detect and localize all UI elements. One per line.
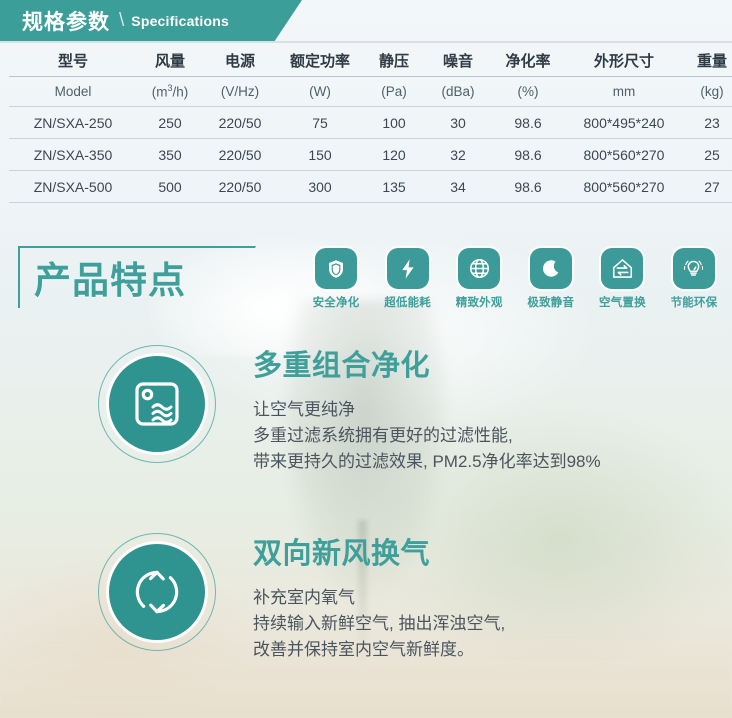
- unit-weight: (kg): [683, 77, 732, 107]
- th-model: 型号: [9, 45, 137, 77]
- feature-title: 双向新风换气: [253, 539, 505, 571]
- th-airflow: 风量: [137, 45, 203, 77]
- feature-icon-ring: [98, 345, 216, 463]
- feature-badge-label: 超低能耗: [384, 294, 431, 310]
- banner-separator: \: [119, 10, 124, 32]
- house-exchange-icon: [601, 248, 643, 289]
- th-purification-rate: 净化率: [491, 45, 565, 77]
- feature-line: 改善并保持室内空气新鲜度。: [253, 637, 505, 663]
- feature-badge-eco[interactable]: 节能环保: [663, 248, 725, 310]
- feature-block-multi-filtration: 多重组合净化 让空气更纯净 多重过滤系统拥有更好的过滤性能, 带来更持久的过滤效…: [98, 345, 601, 474]
- table-row: ZN/SXA-350 350 220/50 150 120 32 98.6 80…: [9, 139, 732, 171]
- cell-weight: 25: [683, 139, 732, 171]
- banner-underline: [0, 41, 732, 43]
- unit-power-supply: (V/Hz): [203, 77, 277, 107]
- feature-line: 多重过滤系统拥有更好的过滤性能,: [253, 423, 601, 449]
- cell-airflow: 250: [137, 107, 203, 139]
- lightning-bolt-icon: [387, 248, 429, 289]
- feature-line: 持续输入新鲜空气, 抽出浑浊空气,: [253, 611, 505, 637]
- feature-badge-label: 空气置换: [599, 294, 646, 310]
- circular-arrows-icon: [109, 544, 205, 640]
- cell-dimensions: 800*560*270: [565, 139, 683, 171]
- cell-model: ZN/SXA-250: [9, 107, 137, 139]
- cell-airflow: 350: [137, 139, 203, 171]
- cell-dimensions: 800*495*240: [565, 107, 683, 139]
- cell-purification: 98.6: [491, 139, 565, 171]
- product-detail-page: 规格参数 \ Specifications 型号 风量 电源 额定功率 静压 噪…: [0, 0, 732, 718]
- cell-power-supply: 220/50: [203, 171, 277, 203]
- cell-airflow: 500: [137, 171, 203, 203]
- feature-line: 补充室内氧气: [253, 585, 505, 611]
- filter-waves-icon: [109, 356, 205, 452]
- table-header-row: 型号 风量 电源 额定功率 静压 噪音 净化率 外形尺寸 重量: [9, 45, 732, 77]
- specifications-table-wrapper: 型号 风量 电源 额定功率 静压 噪音 净化率 外形尺寸 重量 Model (m…: [0, 45, 732, 203]
- unit-model: Model: [9, 77, 137, 107]
- cell-static-pressure: 120: [363, 139, 425, 171]
- feature-badges-row: 安全净化 超低能耗 精致外观 极致静音 空气置换: [305, 248, 725, 310]
- unit-dimensions: mm: [565, 77, 683, 107]
- th-dimensions: 外形尺寸: [565, 45, 683, 77]
- unit-noise: (dBa): [425, 77, 491, 107]
- product-features-title-text: 产品特点: [34, 250, 186, 304]
- feature-badge-label: 安全净化: [313, 294, 360, 310]
- feature-badge-air-exchange[interactable]: 空气置换: [591, 248, 653, 310]
- banner-title-en: Specifications: [131, 13, 229, 29]
- feature-badge-label: 精致外观: [456, 294, 503, 310]
- feature-block-bidirectional-ventilation: 双向新风换气 补充室内氧气 持续输入新鲜空气, 抽出浑浊空气, 改善并保持室内空…: [98, 533, 505, 662]
- cell-weight: 23: [683, 107, 732, 139]
- table-row: ZN/SXA-250 250 220/50 75 100 30 98.6 800…: [9, 107, 732, 139]
- feature-title: 多重组合净化: [253, 351, 601, 383]
- cell-static-pressure: 135: [363, 171, 425, 203]
- cell-noise: 34: [425, 171, 491, 203]
- feature-line: 带来更持久的过滤效果, PM2.5净化率达到98%: [253, 449, 601, 475]
- th-power-supply: 电源: [203, 45, 277, 77]
- unit-rated-power: (W): [277, 77, 363, 107]
- specifications-banner: 规格参数 \ Specifications: [0, 0, 302, 42]
- cell-rated-power: 150: [277, 139, 363, 171]
- unit-static-pressure: (Pa): [363, 77, 425, 107]
- cell-model: ZN/SXA-350: [9, 139, 137, 171]
- cell-power-supply: 220/50: [203, 139, 277, 171]
- cell-static-pressure: 100: [363, 107, 425, 139]
- th-static-pressure: 静压: [363, 45, 425, 77]
- banner-title-cn: 规格参数: [22, 6, 110, 36]
- cell-noise: 32: [425, 139, 491, 171]
- cell-dimensions: 800*560*270: [565, 171, 683, 203]
- feature-badge-label: 极致静音: [527, 294, 574, 310]
- feature-icon-ring: [98, 533, 216, 651]
- feature-text-block: 多重组合净化 让空气更纯净 多重过滤系统拥有更好的过滤性能, 带来更持久的过滤效…: [253, 345, 601, 474]
- cell-noise: 30: [425, 107, 491, 139]
- feature-badge-safety[interactable]: 安全净化: [305, 248, 367, 310]
- cell-purification: 98.6: [491, 171, 565, 203]
- cell-model: ZN/SXA-500: [9, 171, 137, 203]
- moon-stars-icon: [530, 248, 572, 289]
- globe-icon: [458, 248, 500, 289]
- eco-bulb-icon: [673, 248, 715, 289]
- th-rated-power: 额定功率: [277, 45, 363, 77]
- cell-rated-power: 75: [277, 107, 363, 139]
- table-row: ZN/SXA-500 500 220/50 300 135 34 98.6 80…: [9, 171, 732, 203]
- feature-badge-appearance[interactable]: 精致外观: [448, 248, 510, 310]
- unit-airflow: (m3/h): [137, 77, 203, 107]
- cell-purification: 98.6: [491, 107, 565, 139]
- feature-badge-silent[interactable]: 极致静音: [520, 248, 582, 310]
- feature-badge-low-power[interactable]: 超低能耗: [377, 248, 439, 310]
- unit-purification: (%): [491, 77, 565, 107]
- cell-rated-power: 300: [277, 171, 363, 203]
- feature-line: 让空气更纯净: [253, 397, 601, 423]
- th-noise: 噪音: [425, 45, 491, 77]
- cell-power-supply: 220/50: [203, 107, 277, 139]
- unit-airflow-post: /h): [173, 85, 189, 100]
- specifications-table: 型号 风量 电源 额定功率 静压 噪音 净化率 外形尺寸 重量 Model (m…: [9, 45, 732, 203]
- table-units-row: Model (m3/h) (V/Hz) (W) (Pa) (dBa) (%) m…: [9, 77, 732, 107]
- th-weight: 重量: [683, 45, 732, 77]
- cell-weight: 27: [683, 171, 732, 203]
- product-features-title: 产品特点: [18, 246, 256, 308]
- unit-airflow-pre: (m: [152, 85, 168, 100]
- feature-badge-label: 节能环保: [671, 294, 718, 310]
- shield-icon: [315, 248, 357, 289]
- feature-text-block: 双向新风换气 补充室内氧气 持续输入新鲜空气, 抽出浑浊空气, 改善并保持室内空…: [253, 533, 505, 662]
